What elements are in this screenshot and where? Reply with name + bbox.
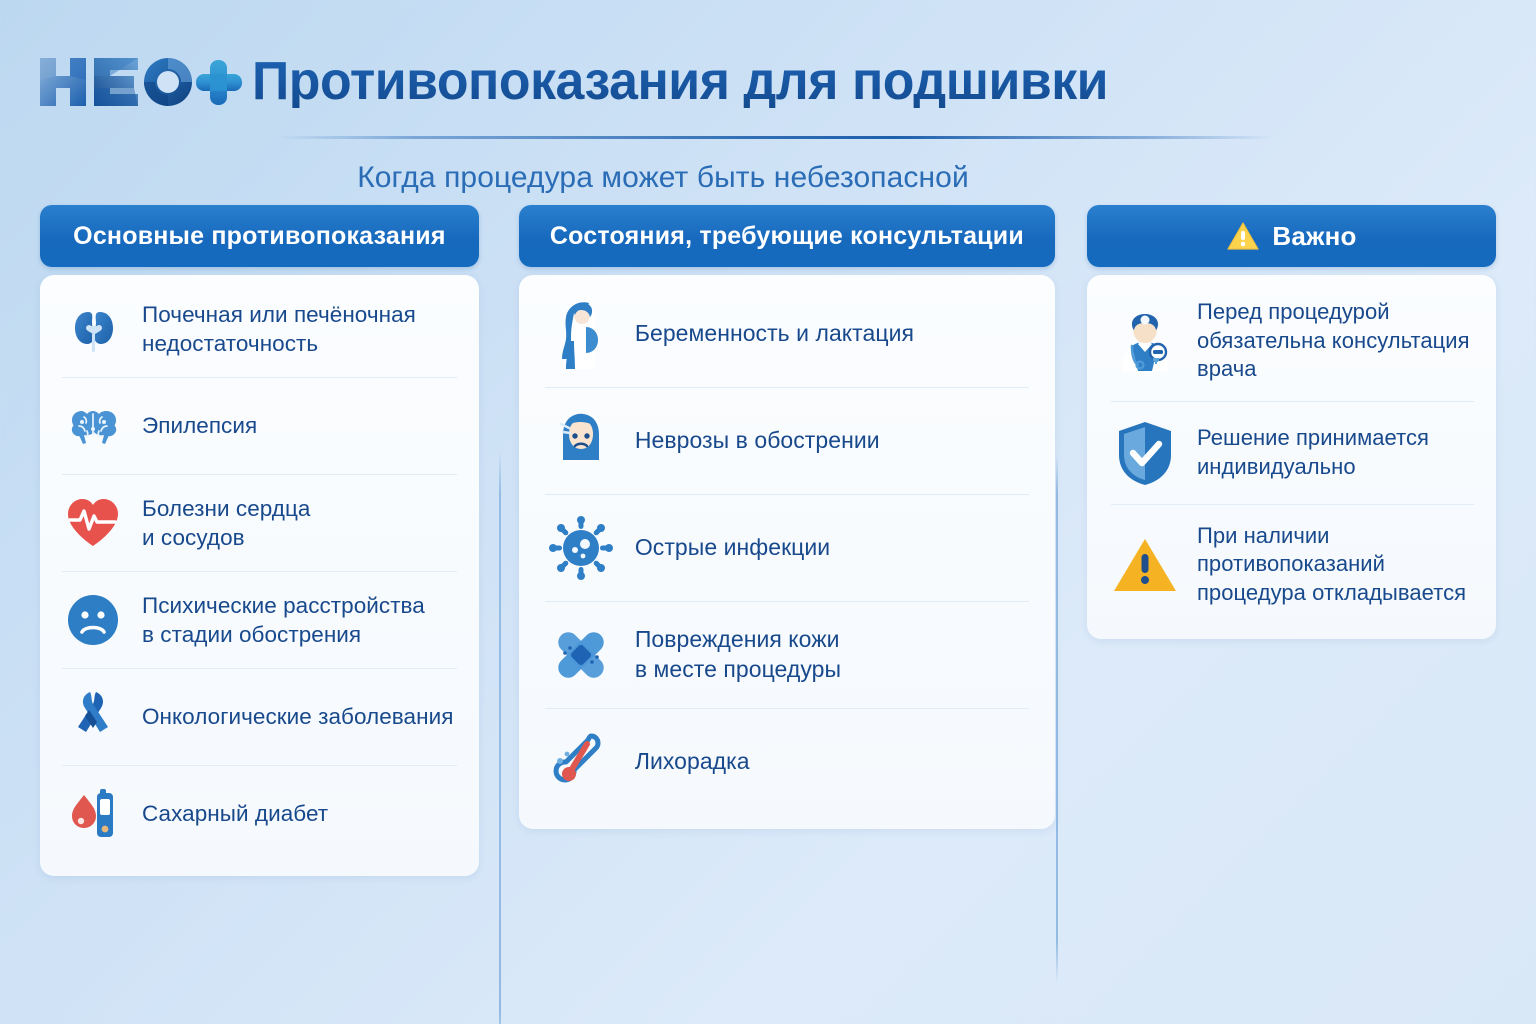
column-divider-2: [1056, 455, 1058, 983]
shield-check-icon: [1111, 419, 1179, 487]
list-item-label: Сахарный диабет: [142, 799, 328, 828]
column-header-important: Важно: [1087, 205, 1496, 267]
warning-triangle-icon: [1111, 531, 1179, 599]
list-item-label: Эпилепсия: [142, 411, 257, 440]
sad-face-icon: [62, 589, 124, 651]
column-header-conditions-requiring-consultation: Состояния, требующие консультации: [519, 205, 1055, 267]
list-item-label: При наличиипротивопоказанийпроцедура отк…: [1197, 522, 1466, 608]
list-item-label: Почечная или печёночнаянедостаточность: [142, 300, 416, 359]
heart-pulse-icon: [62, 492, 124, 554]
list-item-label: Онкологические заболевания: [142, 702, 453, 731]
page-subtitle: Когда процедура может быть небезопасной: [0, 161, 1536, 195]
list-item[interactable]: Онкологические заболевания: [62, 669, 457, 766]
list-item[interactable]: Сахарный диабет: [62, 766, 457, 862]
column-conditions-requiring-consultation: Состояния, требующие консультации Береме…: [519, 205, 1055, 829]
page-title: Противопоказания для подшивки: [252, 54, 1108, 108]
list-item-label: Повреждения кожив месте процедуры: [635, 625, 841, 685]
list-item[interactable]: При наличиипротивопоказанийпроцедура отк…: [1111, 505, 1474, 625]
column-main-contraindications: Основные противопоказания Почечная или п…: [40, 205, 479, 876]
list-item[interactable]: Повреждения кожив месте процедуры: [545, 602, 1029, 709]
bandage-icon: [545, 619, 617, 691]
list-item[interactable]: Эпилепсия: [62, 378, 457, 475]
thermometer-icon: [545, 726, 617, 798]
list-item-label: Решение принимаетсяиндивидуально: [1197, 424, 1429, 481]
title-underline: [275, 136, 1275, 139]
list-item-label: Перед процедуройобязательна консультация…: [1197, 298, 1470, 384]
column-important: Важно: [1087, 205, 1496, 639]
column-title-label: Состояния, требующие консультации: [550, 222, 1024, 251]
ribbon-icon: [62, 686, 124, 748]
neo-plus-logo-icon: [34, 50, 234, 112]
list-item-label: Неврозы в обострении: [635, 426, 880, 456]
brain-icon: [62, 395, 124, 457]
kidneys-icon: [62, 298, 124, 360]
list-item-label: Острые инфекции: [635, 533, 830, 563]
list-item[interactable]: Перед процедуройобязательна консультация…: [1111, 281, 1474, 402]
title-row: Противопоказания для подшивки: [0, 42, 1536, 120]
virus-icon: [545, 512, 617, 584]
column-body-conditions-requiring-consultation: Беременность и лактация Неврозы в: [519, 275, 1055, 829]
column-divider-1: [499, 451, 501, 1024]
list-item[interactable]: Почечная или печёночнаянедостаточность: [62, 281, 457, 378]
list-item-label: Болезни сердцаи сосудов: [142, 494, 310, 553]
brand-logo: [34, 50, 234, 112]
page-header: Противопоказания для подшивки Когда проц…: [0, 0, 1536, 205]
pregnant-woman-icon: [545, 298, 617, 370]
list-item-label: Беременность и лактация: [635, 319, 914, 349]
list-item[interactable]: Беременность и лактация: [545, 281, 1029, 388]
columns-board: Основные противопоказания Почечная или п…: [0, 205, 1536, 876]
list-item[interactable]: Лихорадка: [545, 709, 1029, 815]
warning-triangle-icon: [1226, 221, 1260, 251]
doctor-icon: [1111, 307, 1179, 375]
column-title-label: Основные противопоказания: [73, 222, 445, 251]
list-item[interactable]: Острые инфекции: [545, 495, 1029, 602]
list-item[interactable]: Психические расстройствав стадии обостре…: [62, 572, 457, 669]
column-body-main-contraindications: Почечная или печёночнаянедостаточность Э…: [40, 275, 479, 876]
column-header-main-contraindications: Основные противопоказания: [40, 205, 479, 267]
list-item[interactable]: Неврозы в обострении: [545, 388, 1029, 495]
stressed-woman-icon: [545, 405, 617, 477]
column-title-label: Важно: [1272, 221, 1356, 252]
list-item-label: Психические расстройствав стадии обостре…: [142, 591, 425, 650]
list-item[interactable]: Болезни сердцаи сосудов: [62, 475, 457, 572]
list-item[interactable]: Решение принимаетсяиндивидуально: [1111, 402, 1474, 505]
list-item-label: Лихорадка: [635, 747, 750, 777]
blood-drop-glucometer-icon: [62, 783, 124, 845]
column-body-important: Перед процедуройобязательна консультация…: [1087, 275, 1496, 639]
